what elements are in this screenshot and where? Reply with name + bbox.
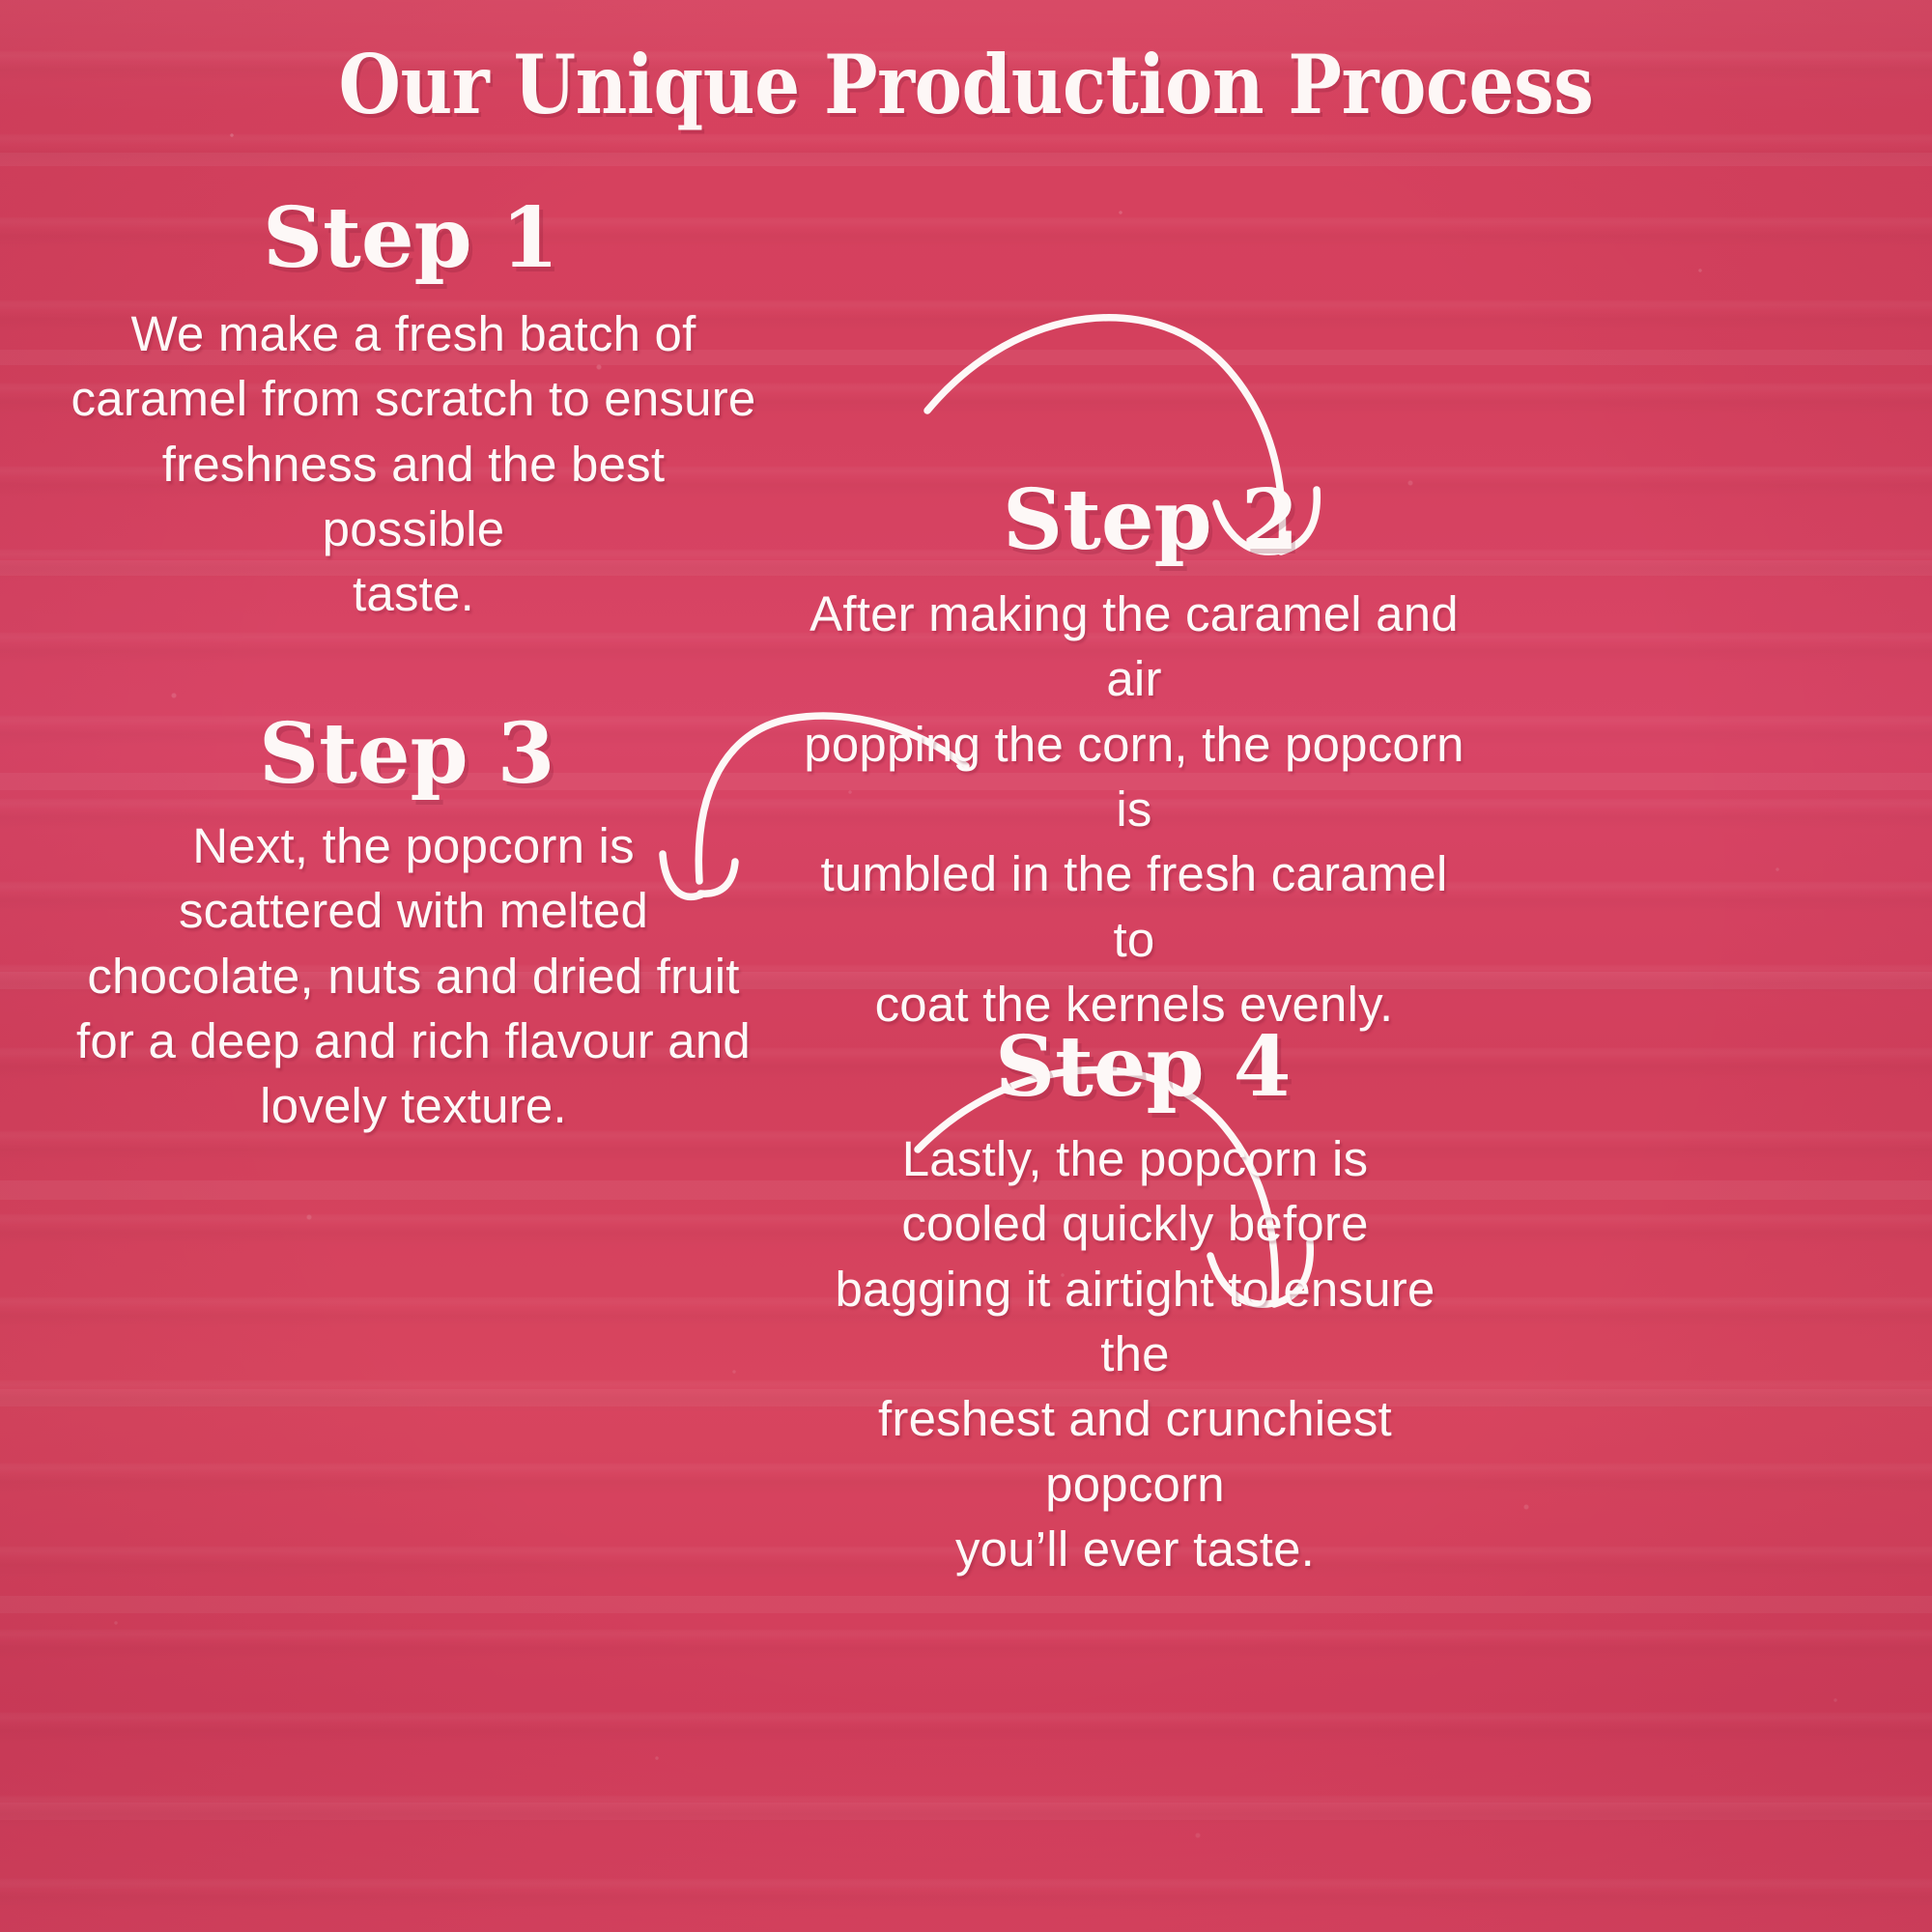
infographic-canvas: Our Unique Production Process Step 1 We … [0, 0, 1932, 1932]
step-4-heading: Step 4 [995, 1018, 1291, 1116]
step-2-body: After making the caramel and air popping… [802, 582, 1466, 1037]
step-3-body: Next, the popcorn is scattered with melt… [75, 813, 752, 1139]
step-3-heading: Step 3 [259, 705, 554, 803]
page-title: Our Unique Production Process [116, 37, 1816, 132]
step-2-heading: Step 2 [1003, 471, 1298, 569]
step-4-body: Lastly, the popcorn is cooled quickly be… [802, 1126, 1468, 1581]
step-1-body: We make a fresh batch of caramel from sc… [70, 301, 757, 627]
step-1-heading: Step 1 [263, 189, 558, 287]
